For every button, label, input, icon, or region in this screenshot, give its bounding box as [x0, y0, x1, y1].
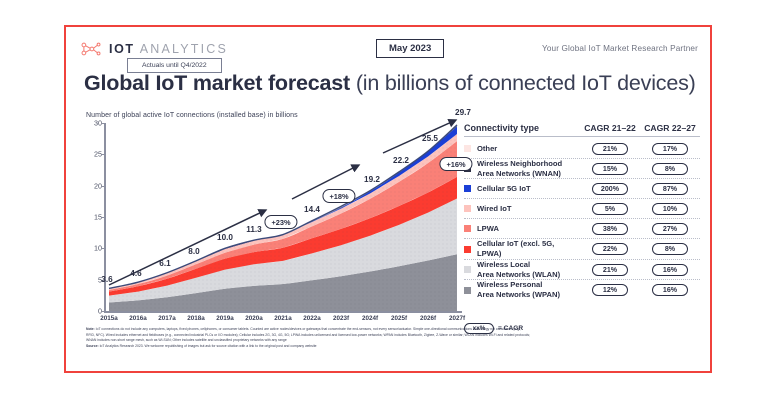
data-point-label: 10.0: [217, 233, 233, 242]
y-axis-tick: 30: [90, 119, 102, 128]
cagr-value-pill: 21%: [592, 143, 628, 155]
x-axis-label: 2026f: [420, 315, 436, 322]
cagr-value-pill: 16%: [652, 264, 688, 276]
x-axis-label: 2022a: [303, 315, 321, 322]
cagr-value-pill: 8%: [652, 243, 688, 255]
page-title-regular: (in billions of connected IoT devices): [356, 71, 696, 95]
x-axis-line: [104, 311, 462, 313]
legend-cagr-21-22-cell: 15%: [580, 163, 640, 175]
legend-row-label: Wired IoT: [477, 204, 580, 214]
cagr-value-pill: 16%: [652, 284, 688, 296]
legend-cagr-21-22-cell: 200%: [580, 183, 640, 195]
legend-color-swatch: [464, 185, 471, 192]
brand-name: IOT ANALYTICS: [109, 42, 228, 56]
cagr-value-pill: 87%: [652, 183, 688, 195]
cagr-callout: +18%: [322, 189, 355, 203]
data-point-label: 3.6: [101, 275, 112, 284]
page-title-bold: Global IoT market forecast: [84, 71, 350, 95]
legend-table: Connectivity type CAGR 21–22 CAGR 22–27 …: [464, 123, 700, 300]
legend-row[interactable]: Wireless NeighborhoodArea Networks (WNAN…: [464, 159, 700, 179]
cagr-value-pill: 15%: [592, 163, 628, 175]
x-axis-label: 2025f: [391, 315, 407, 322]
cagr-value-pill: 21%: [592, 264, 628, 276]
x-axis-label: 2016a: [129, 315, 147, 322]
legend-header-rule: [464, 136, 700, 137]
y-axis-tick: 20: [90, 181, 102, 190]
legend-row-label: Cellular 5G IoT: [477, 184, 580, 194]
slide-frame: IOT ANALYTICS May 2023 Your Global IoT M…: [64, 25, 712, 373]
legend-color-swatch: [464, 287, 471, 294]
y-axis-tick: 5: [90, 275, 102, 284]
legend-row[interactable]: Wireless PersonalArea Networks (WPAN)12%…: [464, 280, 700, 299]
footnote-text-1: IoT connections do not include any compu…: [96, 327, 522, 331]
y-axis-tick-mark: [102, 248, 106, 249]
legend-cagr-21-22-cell: 21%: [580, 143, 640, 155]
legend-col-cagr-22-27: CAGR 22–27: [640, 123, 700, 133]
y-axis-tick-mark: [102, 311, 106, 312]
x-axis-label: 2020a: [245, 315, 263, 322]
cagr-value-pill: 12%: [592, 284, 628, 296]
footnote-source-text: IoT Analytics Research 2023. We welcome …: [100, 344, 317, 348]
data-point-label: 29.7: [455, 108, 471, 117]
legend-color-swatch: [464, 266, 471, 273]
y-axis-tick-mark: [102, 186, 106, 187]
legend-color-swatch: [464, 246, 471, 253]
footnote-source-line: Source: IoT Analytics Research 2023. We …: [86, 344, 696, 350]
legend-row[interactable]: Wireless LocalArea Networks (WLAN)21%16%: [464, 260, 700, 280]
x-axis-label: 2019a: [216, 315, 234, 322]
legend-row-label: Other: [477, 144, 580, 154]
x-axis-label: 2018a: [187, 315, 205, 322]
cagr-value-pill: 27%: [652, 223, 688, 235]
legend-cagr-22-27-cell: 8%: [640, 163, 700, 175]
legend-row[interactable]: Cellular 5G IoT200%87%: [464, 179, 700, 199]
legend-color-swatch: [464, 205, 471, 212]
iot-network-nodes-icon: [80, 41, 102, 57]
brand-secondary: ANALYTICS: [140, 42, 228, 56]
legend-row[interactable]: Other21%17%: [464, 139, 700, 159]
cagr-value-pill: 5%: [592, 203, 628, 215]
cagr-value-pill: 38%: [592, 223, 628, 235]
legend-cagr-22-27-cell: 27%: [640, 223, 700, 235]
legend-cagr-22-27-cell: 87%: [640, 183, 700, 195]
legend-cagr-21-22-cell: 38%: [580, 223, 640, 235]
cagr-value-pill: 200%: [592, 183, 628, 195]
data-point-label: 4.6: [130, 269, 141, 278]
cagr-callout: +23%: [264, 215, 297, 229]
y-axis-tick-mark: [102, 217, 106, 218]
x-axis-label: 2015a: [100, 315, 118, 322]
x-axis-label: 2021a: [274, 315, 292, 322]
legend-col-cagr-21-22: CAGR 21–22: [580, 123, 640, 133]
legend-cagr-21-22-cell: 5%: [580, 203, 640, 215]
legend-row[interactable]: LPWA38%27%: [464, 219, 700, 239]
legend-cagr-22-27-cell: 10%: [640, 203, 700, 215]
cagr-value-pill: 10%: [652, 203, 688, 215]
chart-subtitle: Number of global active IoT connections …: [86, 112, 298, 119]
legend-cagr-22-27-cell: 16%: [640, 264, 700, 276]
y-axis-tick-mark: [102, 154, 106, 155]
footnote-text-2: RFID, NFC). Wired includes ethernet and …: [86, 333, 530, 337]
cagr-value-pill: 22%: [592, 243, 628, 255]
x-axis-label: 2027f: [449, 315, 465, 322]
legend-cagr-22-27-cell: 8%: [640, 243, 700, 255]
y-axis-tick: 25: [90, 150, 102, 159]
x-axis-label: 2024f: [362, 315, 378, 322]
data-point-label: 8.0: [188, 247, 199, 256]
footnote-source-label: Source:: [86, 344, 99, 348]
legend-row[interactable]: Wired IoT5%10%: [464, 199, 700, 219]
x-axis-label: 2017a: [158, 315, 176, 322]
legend-row-label: LPWA: [477, 224, 580, 234]
tagline: Your Global IoT Market Research Partner: [542, 44, 698, 53]
footnote-text-3: WNAN includes non-short range mesh, such…: [86, 338, 287, 342]
cagr-callout: +16%: [439, 157, 472, 171]
legend-row[interactable]: Cellular IoT (excl. 5G, LPWA)22%8%: [464, 239, 700, 259]
y-axis-tick: 10: [90, 244, 102, 253]
y-axis-tick-mark: [102, 123, 106, 124]
legend-cagr-21-22-cell: 21%: [580, 264, 640, 276]
brand-logo: IOT ANALYTICS: [80, 41, 228, 57]
data-point-label: 6.1: [159, 259, 170, 268]
legend-col-type: Connectivity type: [464, 123, 580, 133]
data-point-label: 25.5: [422, 134, 438, 143]
page-title: Global IoT market forecast (in billions …: [84, 71, 696, 96]
data-point-label: 19.2: [364, 175, 380, 184]
legend-row-label: Wireless NeighborhoodArea Networks (WNAN…: [477, 159, 580, 178]
cagr-value-pill: 8%: [652, 163, 688, 175]
legend-row-label: Cellular IoT (excl. 5G, LPWA): [477, 239, 580, 258]
date-badge: May 2023: [376, 39, 444, 58]
legend-row-label: Wireless LocalArea Networks (WLAN): [477, 260, 580, 279]
legend-row-label: Wireless PersonalArea Networks (WPAN): [477, 280, 580, 299]
footnote-note-label: Note:: [86, 327, 95, 331]
legend-cagr-21-22-cell: 22%: [580, 243, 640, 255]
data-point-label: 22.2: [393, 156, 409, 165]
data-point-label: 11.3: [246, 225, 261, 234]
footnotes: Note: IoT connections do not include any…: [86, 327, 696, 349]
x-axis-label: 2023f: [333, 315, 349, 322]
slide-root: IOT ANALYTICS May 2023 Your Global IoT M…: [0, 0, 760, 407]
data-point-label: 14.4: [304, 205, 320, 214]
brand-primary: IOT: [109, 42, 135, 56]
legend-rows: Other21%17%Wireless NeighborhoodArea Net…: [464, 139, 700, 300]
legend-cagr-22-27-cell: 17%: [640, 143, 700, 155]
actuals-annotation: Actuals until Q4/2022: [127, 58, 222, 73]
legend-cagr-22-27-cell: 16%: [640, 284, 700, 296]
legend-header-row: Connectivity type CAGR 21–22 CAGR 22–27: [464, 123, 700, 136]
cagr-value-pill: 17%: [652, 143, 688, 155]
legend-color-swatch: [464, 145, 471, 152]
y-axis-tick: 15: [90, 213, 102, 222]
legend-color-swatch: [464, 225, 471, 232]
legend-cagr-21-22-cell: 12%: [580, 284, 640, 296]
